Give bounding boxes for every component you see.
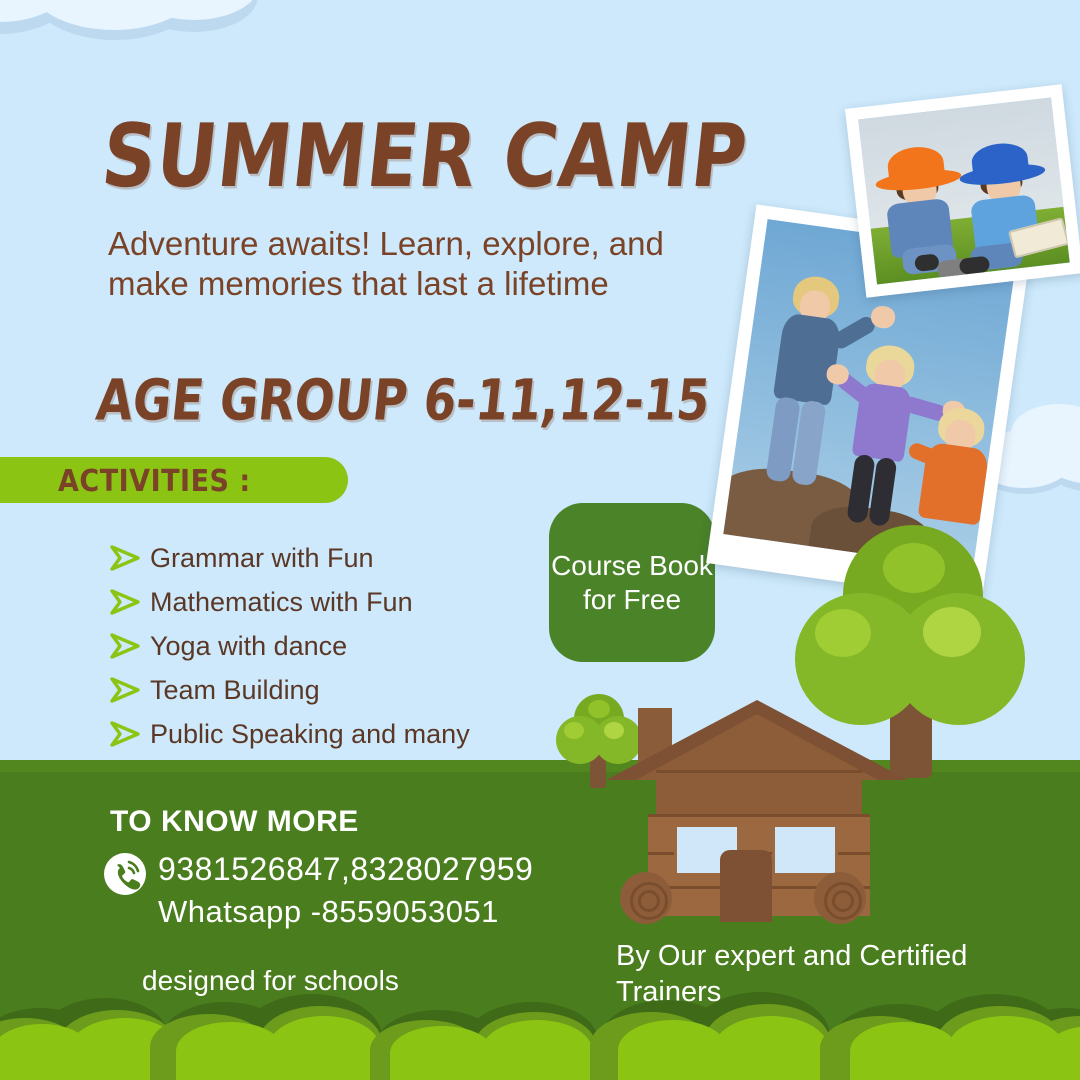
phone-numbers[interactable]: 9381526847,8328027959 bbox=[158, 851, 533, 888]
bush bbox=[150, 988, 380, 1080]
log-cabin-illustration bbox=[612, 700, 902, 920]
chevron-right-icon bbox=[108, 631, 144, 661]
summer-camp-poster: SUMMER CAMP Adventure awaits! Learn, exp… bbox=[0, 0, 1080, 1080]
chevron-right-icon bbox=[108, 719, 144, 749]
list-item: Yoga with dance bbox=[108, 626, 538, 666]
page-title: SUMMER CAMP bbox=[97, 106, 752, 207]
contact-heading: TO KNOW MORE bbox=[110, 805, 359, 839]
bush bbox=[820, 988, 1080, 1080]
list-item-label: Mathematics with Fun bbox=[144, 582, 413, 622]
photo-image bbox=[858, 98, 1070, 285]
activities-list: Grammar with Fun Mathematics with Fun Yo… bbox=[108, 538, 538, 798]
list-item-label: Grammar with Fun bbox=[144, 538, 374, 578]
whatsapp-number[interactable]: Whatsapp -8559053051 bbox=[158, 894, 499, 930]
bush-row bbox=[0, 985, 1080, 1080]
course-book-badge-label: Course Book for Free bbox=[549, 549, 715, 617]
list-item-label: Team Building bbox=[144, 670, 320, 710]
chevron-right-icon bbox=[108, 587, 144, 617]
chevron-right-icon bbox=[108, 543, 144, 573]
age-group-heading: AGE GROUP 6-11,12-15 bbox=[93, 368, 713, 434]
activities-banner-label: ACTIVITIES : bbox=[58, 464, 251, 499]
chevron-right-icon bbox=[108, 675, 144, 705]
course-book-badge[interactable]: Course Book for Free bbox=[549, 503, 715, 662]
list-item: Mathematics with Fun bbox=[108, 582, 538, 622]
poster-subtitle: Adventure awaits! Learn, explore, and ma… bbox=[108, 224, 688, 304]
list-item: Grammar with Fun bbox=[108, 538, 538, 578]
phone-call-icon bbox=[104, 853, 146, 895]
list-item: Team Building bbox=[108, 670, 538, 710]
bush bbox=[370, 996, 600, 1080]
two-boys-reading-photo bbox=[845, 84, 1080, 297]
activities-banner: ACTIVITIES : bbox=[0, 457, 348, 503]
cloud-top-left bbox=[0, 0, 260, 68]
list-item-label: Yoga with dance bbox=[144, 626, 347, 666]
bush bbox=[590, 986, 830, 1080]
